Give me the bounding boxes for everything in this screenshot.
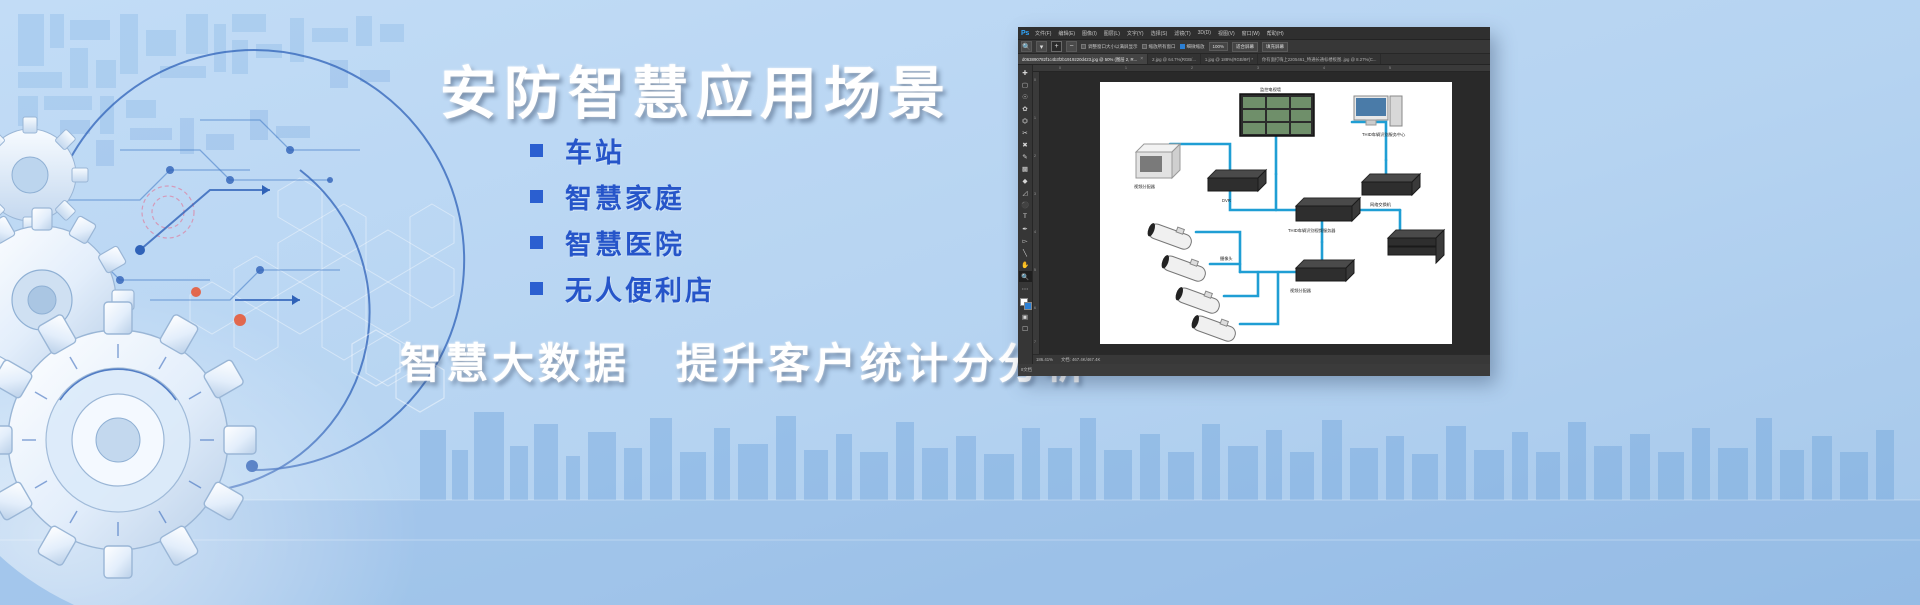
ruler-tick: 6 bbox=[1034, 306, 1036, 310]
text-tool-icon[interactable]: T bbox=[1019, 211, 1032, 222]
list-item: 智慧家庭 bbox=[530, 174, 715, 218]
ruler-tick: 7 bbox=[1034, 340, 1036, 344]
menu-bar[interactable]: Ps 文件(F) 编辑(E) 图像(I) 图层(L) 文字(Y) 选择(S) 滤… bbox=[1018, 27, 1490, 40]
tab-label: 你有面打嗨上2205461_特通长通标楼板图..jpg @ 8.27%(C... bbox=[1262, 54, 1376, 65]
ruler-tick: 5 bbox=[1389, 66, 1391, 70]
ruler-tick: 4 bbox=[1034, 230, 1036, 234]
checkbox-box[interactable] bbox=[1180, 44, 1185, 49]
bullet-square-icon bbox=[530, 236, 543, 249]
path-select-tool-icon[interactable]: ▻ bbox=[1019, 235, 1032, 246]
lasso-tool-icon[interactable]: ☉ bbox=[1019, 91, 1032, 102]
node-label: 监控电视墙 bbox=[1260, 86, 1281, 93]
close-icon[interactable]: × bbox=[1140, 54, 1143, 65]
tagline: 智慧大数据 提升客户统计分分析 bbox=[400, 330, 1090, 391]
hand-tool-icon[interactable]: ✋ bbox=[1019, 259, 1032, 270]
bullet-square-icon bbox=[530, 190, 543, 203]
ruler-tick: 3 bbox=[1034, 192, 1036, 196]
checkbox-box[interactable] bbox=[1081, 44, 1086, 49]
node-label: 视频分配器 bbox=[1290, 287, 1312, 294]
node-label: 摄像头 bbox=[1220, 255, 1233, 262]
ruler-tick: 5 bbox=[1034, 268, 1036, 272]
checkbox-label: 缩放所有窗口 bbox=[1149, 44, 1176, 50]
list-item-label: 智慧医院 bbox=[565, 223, 685, 262]
clone-stamp-tool-icon[interactable]: ▩ bbox=[1019, 163, 1032, 174]
node-label: THID车辆识别视频服务器 bbox=[1288, 227, 1336, 234]
photoshop-logo-icon: Ps bbox=[1021, 30, 1029, 37]
healing-brush-tool-icon[interactable]: ✖ bbox=[1019, 139, 1032, 150]
zoom-level-value[interactable]: 186.41% bbox=[1036, 357, 1053, 362]
menu-item-view[interactable]: 视图(V) bbox=[1218, 30, 1235, 37]
blur-tool-icon[interactable]: ⚫ bbox=[1019, 199, 1032, 210]
menu-item-3d[interactable]: 3D(D) bbox=[1198, 30, 1211, 36]
ruler-tick: 4 bbox=[1323, 66, 1325, 70]
eyedropper-tool-icon[interactable]: ✂ bbox=[1019, 127, 1032, 138]
background-color-swatch[interactable] bbox=[1024, 302, 1032, 310]
quick-select-tool-icon[interactable]: ✿ bbox=[1019, 103, 1032, 114]
list-item: 智慧医院 bbox=[530, 220, 715, 264]
zoom-tool-icon[interactable]: 🔍 bbox=[1019, 271, 1032, 282]
tab-document-3[interactable]: 1.jpg @ 188%(RGB/8#) * bbox=[1201, 54, 1258, 65]
menu-item-help[interactable]: 帮助(H) bbox=[1267, 30, 1284, 37]
bullet-square-icon bbox=[530, 144, 543, 157]
checkbox-label: 细微缩放 bbox=[1187, 44, 1205, 50]
menu-item-filter[interactable]: 滤镜(T) bbox=[1174, 30, 1190, 37]
pen-tool-icon[interactable]: ✒ bbox=[1019, 223, 1032, 234]
bottom-strip-label: 8文档 bbox=[1021, 367, 1032, 373]
ruler-tick: 2 bbox=[1191, 66, 1193, 70]
checkbox-box[interactable] bbox=[1142, 44, 1147, 49]
ruler-left: 0 1 2 3 4 5 6 7 bbox=[1033, 72, 1040, 354]
monitor-wall-node: 监控电视墙 bbox=[1240, 86, 1314, 136]
node-label: THID车辆识别服务中心 bbox=[1362, 131, 1406, 138]
checkbox-label: 调整窗口大小以满屏显示 bbox=[1088, 44, 1138, 50]
banner-root: 安防智慧应用场景 车站 智慧家庭 智慧医院 无人便利店 智慧大数据 提升客户统计… bbox=[0, 0, 1920, 605]
banner-content: 安防智慧应用场景 车站 智慧家庭 智慧医院 无人便利店 智慧大数据 提升客户统计… bbox=[0, 0, 1000, 605]
list-item: 无人便利店 bbox=[530, 266, 715, 310]
artboard[interactable]: 监控电视墙 THID车辆识别服务中心 bbox=[1100, 82, 1452, 344]
tab-document-2[interactable]: 2.jpg @ 64.7%(RGB/... bbox=[1148, 54, 1201, 65]
list-item-label: 车站 bbox=[565, 131, 625, 170]
tab-label: 2.jpg @ 64.7%(RGB/... bbox=[1152, 54, 1196, 65]
menu-item-select[interactable]: 选择(S) bbox=[1151, 30, 1168, 37]
menu-item-edit[interactable]: 编辑(E) bbox=[1058, 30, 1075, 37]
zoom-tool-icon[interactable]: 🔍 bbox=[1021, 41, 1032, 52]
menu-item-type[interactable]: 文字(Y) bbox=[1127, 30, 1144, 37]
ruler-tick: 0 bbox=[1034, 78, 1036, 82]
color-swatches[interactable] bbox=[1019, 298, 1032, 310]
menu-item-file[interactable]: 文件(F) bbox=[1035, 30, 1051, 37]
tab-document-4[interactable]: 你有面打嗨上2205461_特通长通标楼板图..jpg @ 8.27%(C... bbox=[1258, 54, 1381, 65]
menu-item-window[interactable]: 窗口(W) bbox=[1242, 30, 1260, 37]
list-item-label: 智慧家庭 bbox=[565, 177, 685, 216]
move-tool-icon[interactable]: ✚ bbox=[1019, 67, 1032, 78]
chevron-down-icon[interactable]: ▾ bbox=[1036, 41, 1047, 52]
page-title: 安防智慧应用场景 bbox=[440, 48, 952, 130]
marquee-tool-icon[interactable]: ▢ bbox=[1019, 79, 1032, 90]
bullet-square-icon bbox=[530, 282, 543, 295]
status-bar[interactable]: 186.41% 文档: 467.4K/467.4K bbox=[1033, 354, 1490, 364]
list-item: 车站 bbox=[530, 128, 715, 172]
options-bar[interactable]: 🔍 ▾ + − 调整窗口大小以满屏显示 缩放所有窗口 细微缩放 100% 适合屏… bbox=[1018, 40, 1490, 54]
ruler-tick: 2 bbox=[1034, 154, 1036, 158]
screen-mode-icon[interactable]: ☐ bbox=[1019, 323, 1032, 334]
node-label: DVR bbox=[1222, 198, 1231, 203]
crop-tool-icon[interactable]: ⏣ bbox=[1019, 115, 1032, 126]
checkbox-zoom-all-windows[interactable]: 缩放所有窗口 bbox=[1142, 44, 1176, 50]
toolbox[interactable]: ✚ ▢ ☉ ✿ ⏣ ✂ ✖ ✎ ▩ ◆ ◿ ⚫ T ✒ ▻ ╲ ✋ 🔍 ⋯ bbox=[1018, 65, 1033, 364]
bottom-strip: 8文档 bbox=[1018, 364, 1490, 376]
zoom-in-icon[interactable]: + bbox=[1051, 41, 1062, 52]
brush-tool-icon[interactable]: ✎ bbox=[1019, 151, 1032, 162]
shape-tool-icon[interactable]: ╲ bbox=[1019, 247, 1032, 258]
tab-label: d063890782f1c4b3f2b1919220d423.jpg @ 50%… bbox=[1022, 54, 1137, 65]
quick-mask-icon[interactable]: ▣ bbox=[1019, 311, 1032, 322]
management-pc-node: THID车辆识别服务中心 bbox=[1354, 96, 1406, 138]
node-label: 网络交换机 bbox=[1370, 201, 1392, 208]
more-tools-icon[interactable]: ⋯ bbox=[1019, 283, 1032, 294]
canvas-area[interactable]: 0 1 2 3 4 5 0 1 2 3 4 5 6 bbox=[1033, 65, 1490, 364]
node-label: 视频分配器 bbox=[1134, 183, 1156, 190]
fill-screen-button[interactable]: 填充屏幕 bbox=[1262, 42, 1288, 52]
workspace: ✚ ▢ ☉ ✿ ⏣ ✂ ✖ ✎ ▩ ◆ ◿ ⚫ T ✒ ▻ ╲ ✋ 🔍 ⋯ bbox=[1018, 65, 1490, 364]
tab-label: 1.jpg @ 188%(RGB/8#) * bbox=[1205, 54, 1253, 65]
checkbox-scrubby-zoom[interactable]: 细微缩放 bbox=[1180, 44, 1205, 50]
gradient-tool-icon[interactable]: ◿ bbox=[1019, 187, 1032, 198]
ruler-tick: 3 bbox=[1257, 66, 1259, 70]
ruler-tick: 1 bbox=[1034, 116, 1036, 120]
eraser-tool-icon[interactable]: ◆ bbox=[1019, 175, 1032, 186]
cctv-network-diagram: 监控电视墙 THID车辆识别服务中心 bbox=[1100, 82, 1452, 344]
photoshop-window[interactable]: Ps 文件(F) 编辑(E) 图像(I) 图层(L) 文字(Y) 选择(S) 滤… bbox=[1018, 27, 1490, 376]
ruler-tick: 0 bbox=[1059, 66, 1061, 70]
ruler-tick: 1 bbox=[1125, 66, 1127, 70]
checkbox-resize-windows[interactable]: 调整窗口大小以满屏显示 bbox=[1081, 44, 1138, 50]
zoom-out-icon[interactable]: − bbox=[1066, 41, 1077, 52]
zoom-100-button[interactable]: 100% bbox=[1209, 42, 1229, 51]
menu-item-layer[interactable]: 图层(L) bbox=[1104, 30, 1120, 37]
tab-document-1[interactable]: d063890782f1c4b3f2b1919220d423.jpg @ 50%… bbox=[1018, 54, 1148, 65]
list-item-label: 无人便利店 bbox=[565, 269, 715, 308]
feature-list: 车站 智慧家庭 智慧医院 无人便利店 bbox=[530, 128, 715, 312]
document-tab-bar[interactable]: d063890782f1c4b3f2b1919220d423.jpg @ 50%… bbox=[1018, 54, 1490, 65]
menu-item-image[interactable]: 图像(I) bbox=[1082, 30, 1097, 37]
document-size-value: 文档: 467.4K/467.4K bbox=[1061, 357, 1100, 363]
artboard-wrapper[interactable]: 监控电视墙 THID车辆识别服务中心 bbox=[1040, 72, 1490, 354]
ruler-top: 0 1 2 3 4 5 bbox=[1033, 65, 1490, 72]
fit-screen-button[interactable]: 适合屏幕 bbox=[1232, 42, 1258, 52]
